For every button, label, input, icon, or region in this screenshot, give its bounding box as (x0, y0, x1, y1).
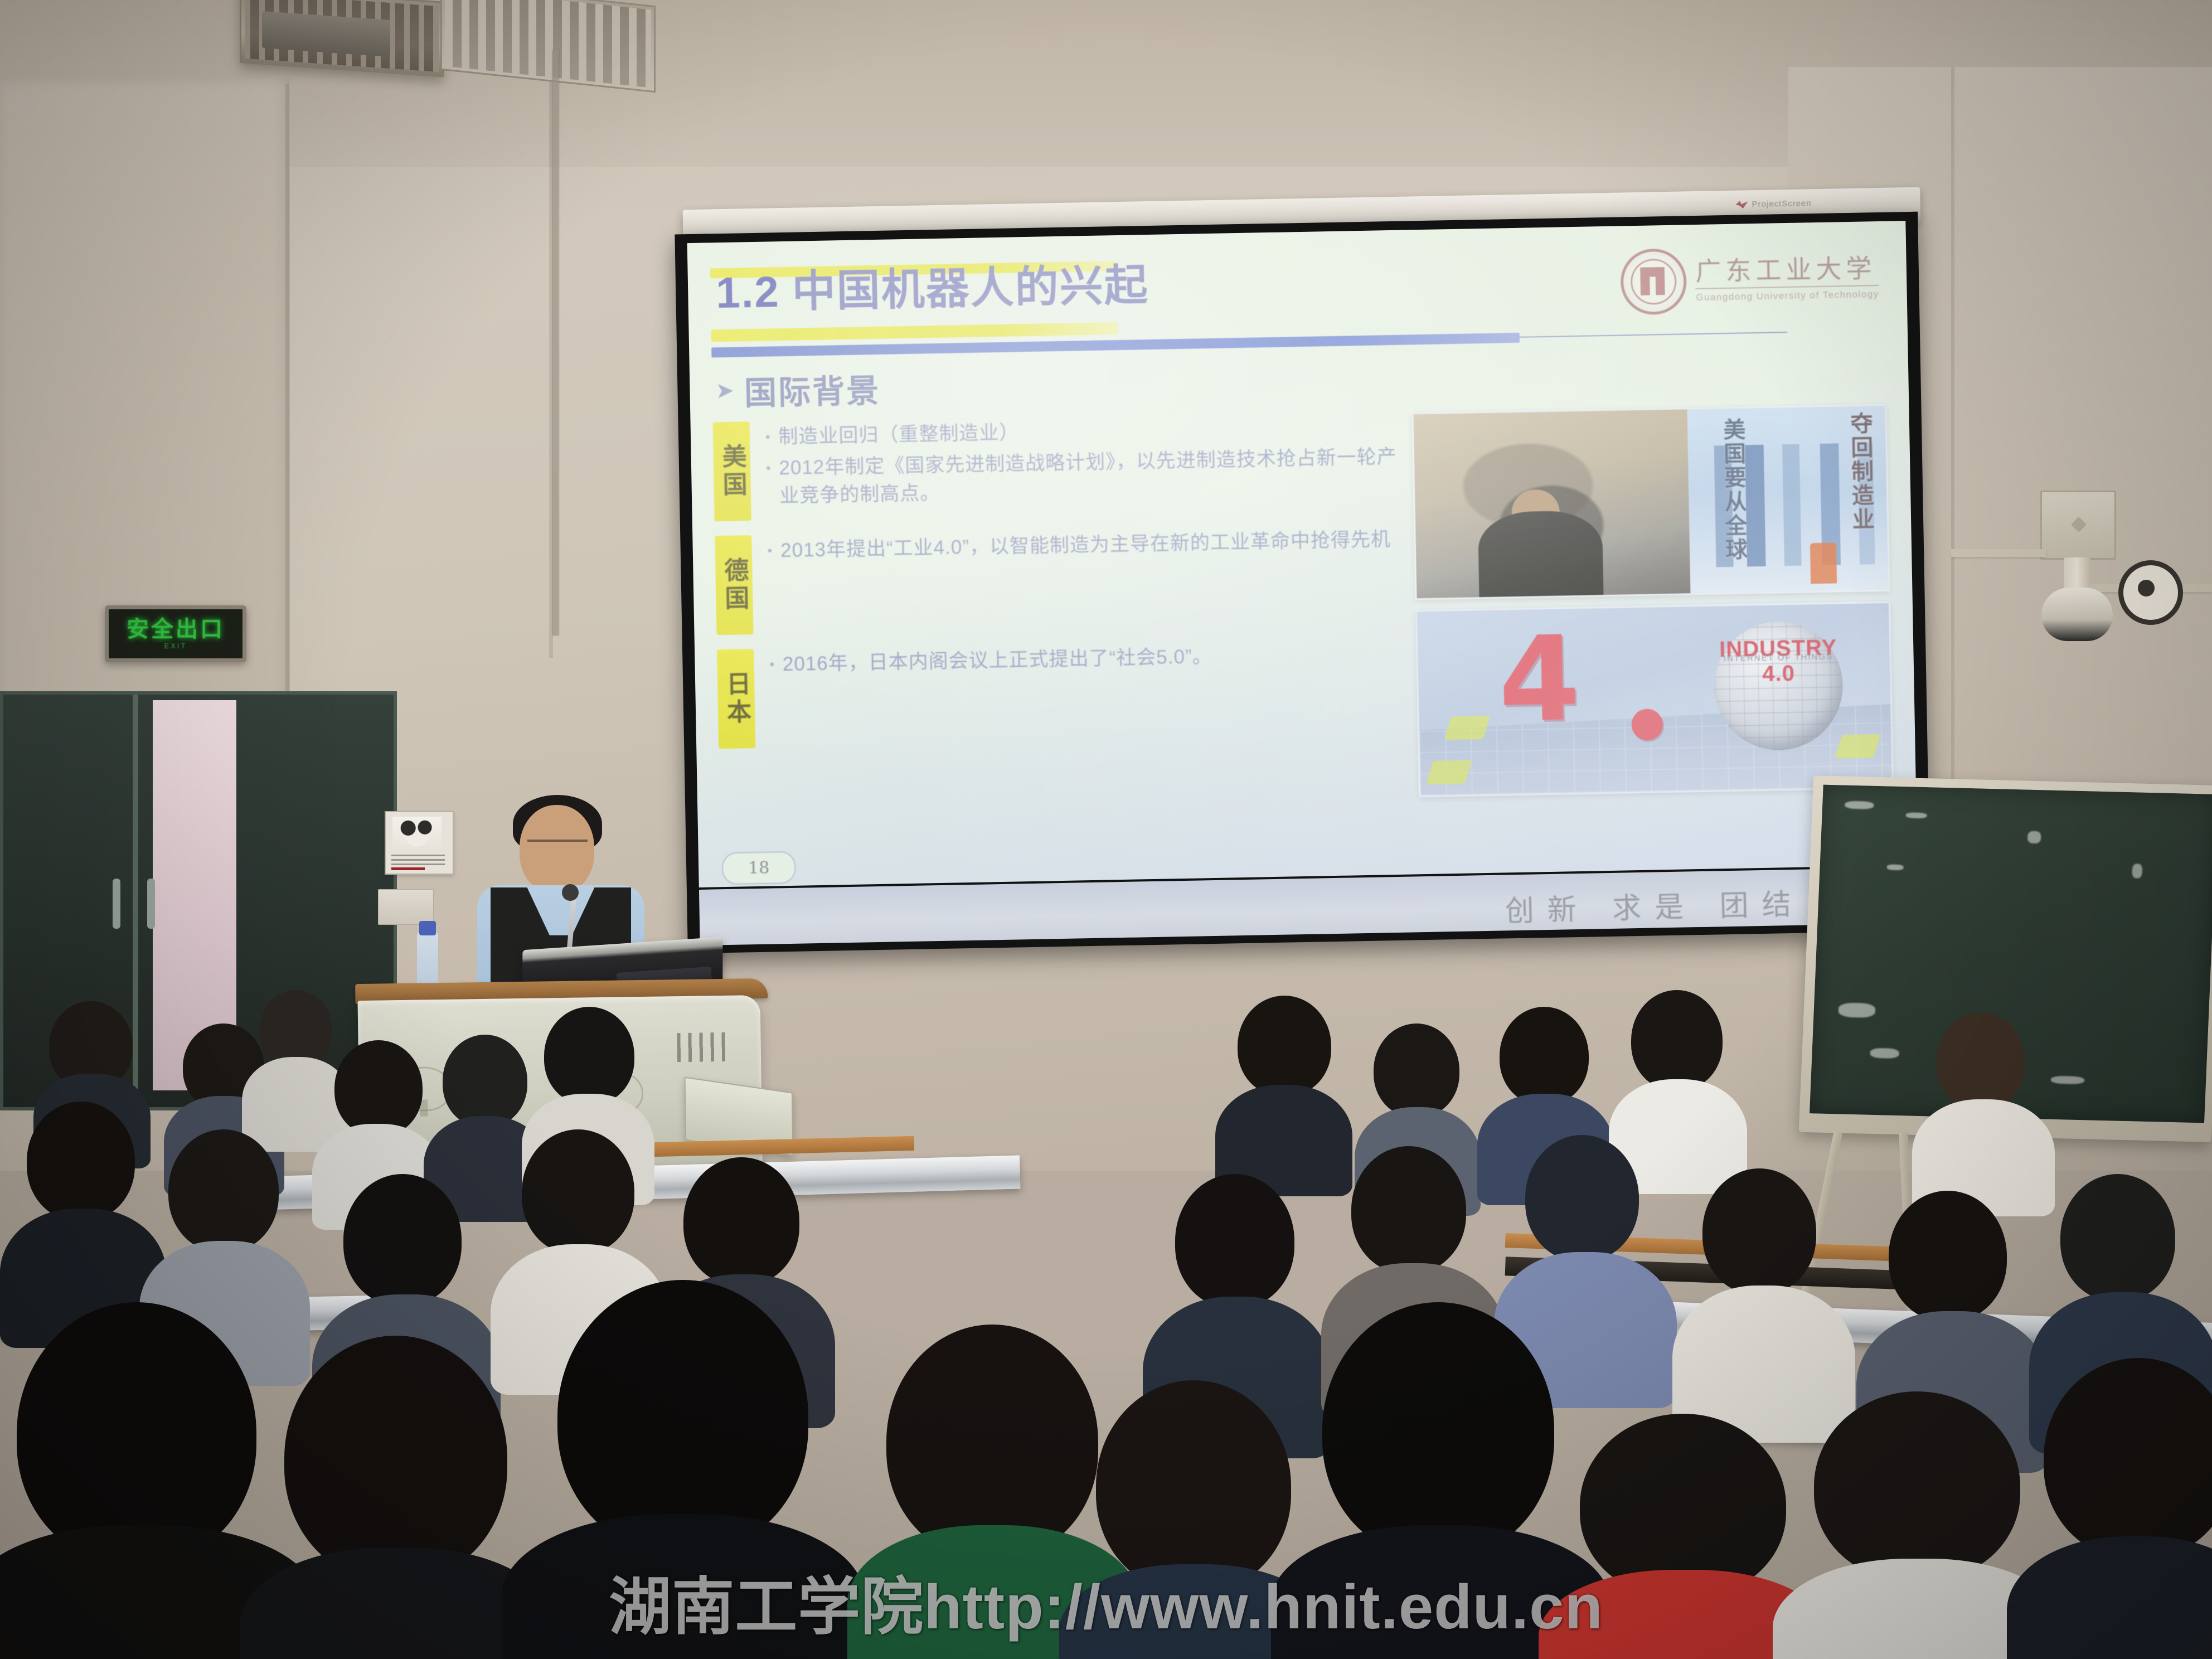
projection-screen: 1.2中国机器人的兴起 广东工业大学 Guangdong University … (675, 212, 1930, 954)
photo-press-conference (1414, 409, 1700, 598)
slide-title-text: 中国机器人的兴起 (792, 260, 1149, 316)
wall-conduit-pipe (552, 50, 559, 636)
country-block-japan: 日本 • 2016年，日本内阁会议上正式提出了“社会5.0”。 (717, 637, 1404, 749)
chalk-mark (2027, 831, 2041, 844)
bullet-text: 2013年提出“工业4.0”，以智能制造为主导在新的工业革命中抢得先机 (780, 526, 1401, 565)
microphone-head-icon (562, 884, 579, 901)
bullet-dot-icon: • (769, 651, 775, 678)
slide-title-wrap: 1.2中国机器人的兴起 (710, 254, 1154, 324)
country-tag-germany: 德国 (715, 535, 753, 635)
bullet-dot-icon: • (765, 423, 771, 451)
water-bottle-cap (419, 921, 436, 935)
chalk-mark (1905, 812, 1927, 818)
industry-chip (1444, 716, 1490, 740)
bullet-list-japan: • 2016年，日本内阁会议上正式提出了“社会5.0”。 (769, 637, 1403, 682)
audience-member (1672, 1168, 1851, 1419)
camera-lens-ring-icon (2118, 560, 2183, 625)
audience-head (2060, 1174, 2175, 1301)
university-name-en: Guangdong University of Technology (1696, 289, 1879, 303)
audience-head (1238, 996, 1331, 1096)
audience-head (168, 1129, 279, 1252)
slide-body: 美国 • 制造业回归（重整制造业） • 2012年制定《国家先进制造战略计划》，… (713, 401, 1894, 810)
audience-head (1322, 1302, 1554, 1558)
bullet-item: • 2012年制定《国家先进制造战略计划》，以先进制造技术抢占新一轮产业竞争的制… (766, 443, 1400, 511)
electrical-junction-box (2040, 491, 2116, 560)
audience-head (1702, 1168, 1816, 1294)
audience-head (2044, 1358, 2212, 1559)
audience-head (683, 1157, 799, 1286)
audience-member (0, 1102, 162, 1325)
audience-head (443, 1035, 527, 1127)
bullet-dot-icon: • (766, 454, 772, 510)
audience-head (522, 1129, 634, 1254)
industry-big-number: 4 (1497, 623, 1581, 736)
country-tag-label-japan: 日本 (718, 671, 755, 727)
audience-head (1351, 1146, 1466, 1273)
slide-header: 1.2中国机器人的兴起 广东工业大学 Guangdong University … (710, 240, 1885, 346)
photo-suit (1477, 510, 1603, 597)
audience-head (1937, 1012, 2025, 1110)
title-highlight-bottom (711, 322, 1118, 342)
industry-chip (1426, 760, 1472, 785)
audience-head (1889, 1191, 2007, 1321)
slide-divider-line (1520, 332, 1787, 338)
section-title: 国际背景 (744, 365, 881, 414)
bullet-list-germany: • 2013年提出“工业4.0”，以智能制造为主导在新的工业革命中抢得先机 (767, 523, 1401, 569)
audience-head (557, 1280, 808, 1553)
country-tag-usa: 美国 (713, 421, 751, 521)
country-tag-japan: 日本 (717, 649, 755, 749)
emergency-exit-sign: 安全出口 EXIT (105, 605, 246, 662)
presenter-glasses (527, 840, 588, 853)
slide-page-number: 18 (722, 851, 796, 885)
bullet-list-usa: • 制造业回归（重整制造业） • 2012年制定《国家先进制造战略计划》，以先进… (765, 410, 1400, 514)
wall-seam-right (1951, 67, 1954, 847)
country-block-germany: 德国 • 2013年提出“工业4.0”，以智能制造为主导在新的工业革命中抢得先机 (715, 523, 1402, 636)
slide-image-industry-40: 4 INDUSTRY 4.0 INTERNET OF THINGS (1415, 601, 1894, 798)
poster-accent-bar (391, 867, 425, 870)
bullet-item: • 2016年，日本内阁会议上正式提出了“社会5.0”。 (769, 639, 1403, 679)
wall-poster (385, 811, 454, 875)
slide-image-us-manufacturing: 美国要从全球 夺回制造业 (1411, 404, 1890, 600)
slide-title-number: 1.2 (715, 267, 780, 317)
brand-mark-icon (1735, 201, 1748, 208)
slide-footer: 18 (722, 851, 796, 885)
audience-head (334, 1040, 423, 1136)
audience-head (1525, 1135, 1639, 1261)
security-camera-dome (2035, 557, 2118, 641)
university-seal-icon (1621, 248, 1687, 315)
wall-motto-text: 创新 求是 团结 勤奋 (1505, 879, 1852, 949)
site-watermark: 湖南工学院http://www.hnit.edu.cn (0, 1556, 2212, 1647)
university-logo-text: 广东工业大学 Guangdong University of Technolog… (1695, 255, 1879, 303)
audience-head (343, 1174, 462, 1306)
bullet-text: 2016年，日本内阁会议上正式提出了“社会5.0”。 (782, 639, 1403, 678)
audience-head (1175, 1174, 1294, 1308)
bullet-item: • 2013年提出“工业4.0”，以智能制造为主导在新的工业革命中抢得先机 (767, 526, 1401, 565)
lecture-hall-photo: 安全出口 EXIT ProjectScreen (0, 0, 2212, 1659)
university-logo: 广东工业大学 Guangdong University of Technolog… (1621, 245, 1880, 315)
chevron-right-icon: ➤ (715, 380, 734, 402)
audience-member (1215, 996, 1349, 1168)
image-vertical-text-2: 夺回制造业 (1847, 411, 1873, 532)
door-handle-left[interactable] (113, 879, 120, 929)
exit-sign-label-cn: 安全出口 (127, 618, 225, 641)
slide-title: 1.2中国机器人的兴起 (715, 254, 1149, 324)
wall-power-socket (378, 889, 434, 925)
university-name-cn: 广东工业大学 (1695, 255, 1879, 284)
door-handle-right[interactable] (147, 879, 155, 929)
image-vertical-text-1: 美国要从全球 (1720, 418, 1747, 562)
industry-decimal-dot (1631, 709, 1663, 740)
audience-head (1631, 990, 1723, 1090)
screen-brand-logo: ProjectScreen (1735, 198, 1812, 209)
presentation-slide: 1.2中国机器人的兴起 广东工业大学 Guangdong University … (687, 221, 1918, 887)
audience-head (1500, 1007, 1589, 1105)
country-tag-label-germany: 德国 (716, 557, 753, 613)
chalk-mark (1845, 801, 1874, 809)
country-block-usa: 美国 • 制造业回归（重整制造业） • 2012年制定《国家先进制造战略计划》，… (713, 410, 1400, 522)
audience-head (1374, 1023, 1459, 1117)
chalk-mark (1886, 864, 1903, 870)
slide-text-column: 美国 • 制造业回归（重整制造业） • 2012年制定《国家先进制造战略计划》，… (713, 410, 1406, 810)
bullet-text: 2012年制定《国家先进制造战略计划》，以先进制造技术抢占新一轮产业竞争的制高点… (779, 443, 1400, 510)
audience-head (1814, 1391, 2020, 1581)
screen-brand-label: ProjectScreen (1752, 198, 1812, 209)
audience-head (284, 1336, 507, 1581)
screen-surface: 1.2中国机器人的兴起 广东工业大学 Guangdong University … (687, 221, 1918, 887)
poster-panda-graphic (392, 817, 442, 850)
audience-member (1912, 1012, 2051, 1196)
poster-text-lines (391, 855, 445, 868)
exit-sign-panel: 安全出口 EXIT (109, 609, 242, 658)
camera-dome-body (2041, 588, 2113, 641)
bullet-dot-icon: • (767, 537, 773, 565)
exit-sign-label-en: EXIT (164, 642, 187, 650)
country-tag-label-usa: 美国 (714, 443, 750, 499)
wall-conduit-horizontal-upper (1951, 549, 2046, 557)
audience-head (27, 1102, 135, 1221)
slide-image-column: 美国要从全球 夺回制造业 4 INDUSTRY 4. (1411, 401, 1894, 797)
chalk-mark (2132, 864, 2142, 878)
skyline-orange-block (1810, 543, 1837, 584)
audience-head (544, 1007, 634, 1105)
